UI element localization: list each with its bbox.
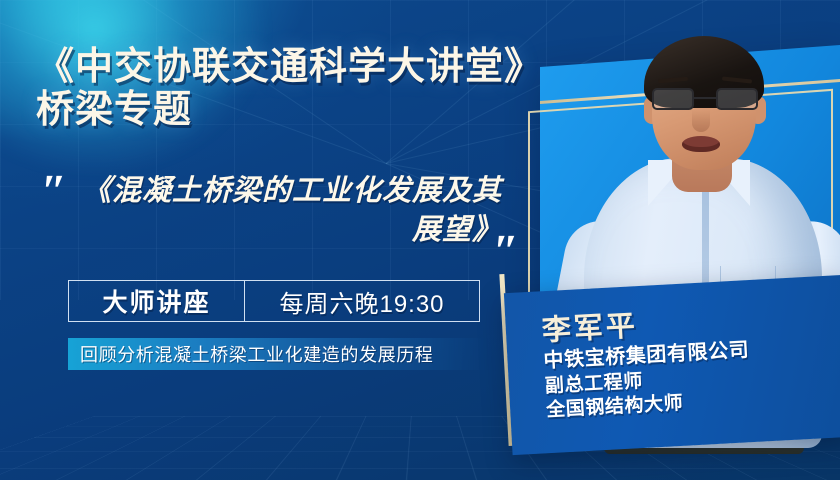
schedule-time: 每周六晚19:30 (245, 281, 479, 321)
poster-headline: 《中交协联交通科学大讲堂》 桥梁专题 (36, 46, 556, 131)
glasses-lens-right (716, 88, 758, 110)
portrait-nose (692, 110, 710, 132)
schedule-box: 大师讲座 每周六晚19:30 (68, 280, 480, 322)
headline-line-1: 《中交协联交通科学大讲堂》 (36, 46, 556, 89)
glasses-lens-left (652, 88, 694, 110)
portrait-glasses (652, 88, 758, 110)
lecture-topic-quote: " 《混凝土桥梁的工业化发展及其展望》 " (38, 172, 538, 250)
promotional-poster: 《中交协联交通科学大讲堂》 桥梁专题 " 《混凝土桥梁的工业化发展及其展望》 "… (0, 0, 840, 480)
headline-line-2: 桥梁专题 (36, 89, 556, 132)
speaker-info-card: 李军平 中铁宝桥集团有限公司 副总工程师 全国钢结构大师 (504, 275, 840, 455)
portrait-mouth (682, 136, 720, 152)
schedule-label: 大师讲座 (69, 281, 245, 321)
lecture-topic-text: 《混凝土桥梁的工业化发展及其展望》 (82, 172, 502, 250)
glasses-bridge (694, 97, 716, 99)
description-bar: 回顾分析混凝土桥梁工业化建造的发展历程 (68, 338, 488, 370)
description-text: 回顾分析混凝土桥梁工业化建造的发展历程 (68, 341, 433, 367)
quote-open-mark: " (32, 168, 69, 214)
